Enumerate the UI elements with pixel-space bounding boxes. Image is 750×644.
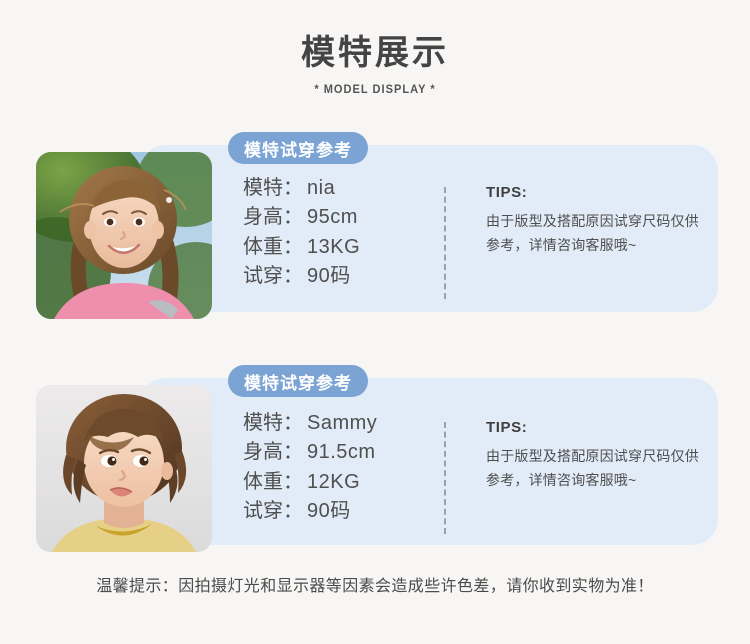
tips-body: 由于版型及搭配原因试穿尺码仅供参考，详情咨询客服哦~ bbox=[486, 444, 701, 492]
spec-label-weight: 体重： bbox=[243, 236, 303, 258]
spec-value-size: 90码 bbox=[307, 500, 351, 522]
model-photo-sammy bbox=[36, 385, 212, 552]
spec-value-model: nia bbox=[307, 177, 335, 199]
spec-label-height: 身高： bbox=[243, 441, 303, 463]
spec-row-model: 模特：Sammy bbox=[243, 409, 377, 438]
spec-label-size: 试穿： bbox=[243, 265, 303, 287]
model-reference-badge: 模特试穿参考 bbox=[228, 365, 368, 397]
dashed-divider bbox=[444, 422, 446, 534]
model-reference-badge: 模特试穿参考 bbox=[228, 132, 368, 164]
model-card-2: 模特试穿参考 模特：Sammy 身高：91.5cm 体重：12KG 试穿：90码… bbox=[0, 365, 750, 545]
spec-label-weight: 体重： bbox=[243, 471, 303, 493]
spec-row-height: 身高：91.5cm bbox=[243, 438, 377, 467]
dashed-divider bbox=[444, 187, 446, 299]
model-photo-nia bbox=[36, 152, 212, 319]
tips-title: TIPS: bbox=[486, 419, 701, 436]
model-spec-list: 模特：nia 身高：95cm 体重：13KG 试穿：90码 bbox=[243, 174, 360, 292]
page-subtitle: * MODEL DISPLAY * bbox=[30, 82, 720, 96]
page-title: 模特展示 bbox=[0, 34, 750, 73]
spec-value-height: 95cm bbox=[307, 206, 358, 228]
model-card-1: 模特试穿参考 模特：nia 身高：95cm 体重：13KG 试穿：90码 TIP… bbox=[0, 132, 750, 312]
spec-value-size: 90码 bbox=[307, 265, 351, 287]
tips-block: TIPS: 由于版型及搭配原因试穿尺码仅供参考，详情咨询客服哦~ bbox=[486, 184, 701, 257]
model-spec-list: 模特：Sammy 身高：91.5cm 体重：12KG 试穿：90码 bbox=[243, 409, 377, 527]
spec-row-size: 试穿：90码 bbox=[243, 497, 377, 526]
tips-title: TIPS: bbox=[486, 184, 701, 201]
spec-label-size: 试穿： bbox=[243, 500, 303, 522]
spec-row-size: 试穿：90码 bbox=[243, 262, 360, 291]
spec-row-height: 身高：95cm bbox=[243, 203, 360, 232]
spec-row-weight: 体重：13KG bbox=[243, 233, 360, 262]
spec-value-weight: 12KG bbox=[307, 471, 360, 493]
tips-body: 由于版型及搭配原因试穿尺码仅供参考，详情咨询客服哦~ bbox=[486, 209, 701, 257]
spec-label-height: 身高： bbox=[243, 206, 303, 228]
spec-row-model: 模特：nia bbox=[243, 174, 360, 203]
spec-row-weight: 体重：12KG bbox=[243, 468, 377, 497]
footer-note: 温馨提示：因拍摄灯光和显示器等因素会造成些许色差，请你收到实物为准！ bbox=[0, 572, 750, 596]
page-header: 模特展示 * MODEL DISPLAY * bbox=[0, 0, 750, 96]
spec-label-model: 模特： bbox=[243, 177, 303, 199]
spec-value-weight: 13KG bbox=[307, 236, 360, 258]
spec-label-model: 模特： bbox=[243, 412, 303, 434]
tips-block: TIPS: 由于版型及搭配原因试穿尺码仅供参考，详情咨询客服哦~ bbox=[486, 419, 701, 492]
spec-value-height: 91.5cm bbox=[307, 441, 376, 463]
spec-value-model: Sammy bbox=[307, 412, 377, 434]
